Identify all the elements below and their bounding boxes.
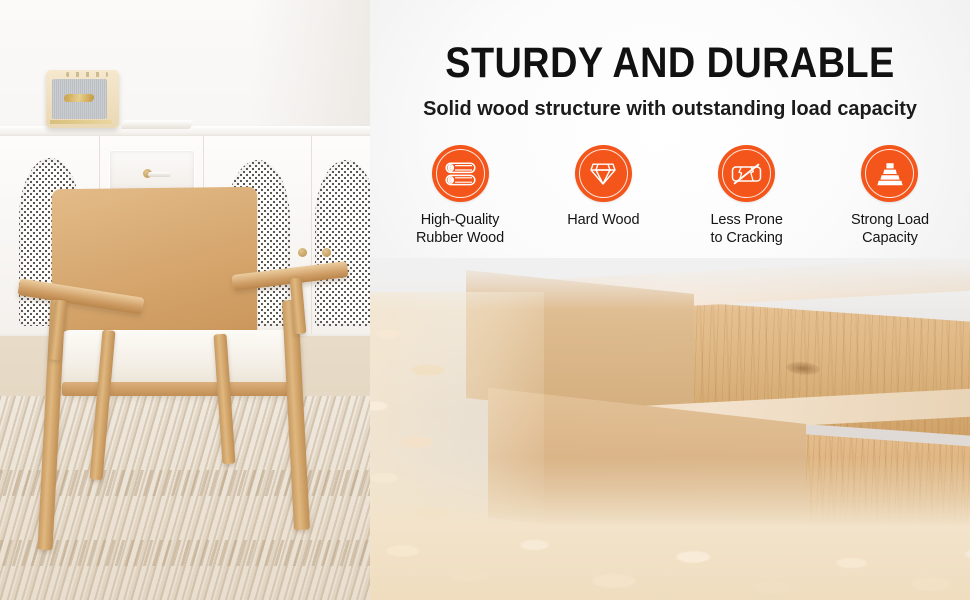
retro-speaker <box>46 70 119 128</box>
feature-label: Hard Wood <box>567 211 639 229</box>
feature-icon-badge <box>861 145 918 202</box>
cabinet-door-right <box>312 136 370 334</box>
photo-top-fade <box>370 258 970 310</box>
cabinet-knob <box>322 248 331 257</box>
stacked-load-icon <box>875 161 905 187</box>
speaker-knobs <box>66 72 108 77</box>
feature-icon-badge <box>432 145 489 202</box>
feature-label-line1: Strong Load <box>851 211 929 229</box>
diamond-gem-icon <box>589 161 617 187</box>
feature-label-line1: High-Quality <box>416 211 504 229</box>
lumber-photo <box>370 258 970 600</box>
feature-list: High-Quality Rubber Wood <box>390 145 960 270</box>
feature-label: High-Quality Rubber Wood <box>416 211 504 247</box>
feature-label-line1: Hard Wood <box>567 211 639 229</box>
feature-item-less-prone-to-cracking: Less Prone to Cracking <box>677 145 817 247</box>
rug-stripe-band <box>0 540 370 566</box>
feature-icon-badge <box>575 145 632 202</box>
feature-label-line2: to Cracking <box>710 229 782 247</box>
page-title: STURDY AND DURABLE <box>406 40 934 86</box>
feature-item-strong-load-capacity: Strong Load Capacity <box>820 145 960 247</box>
product-feature-banner: STURDY AND DURABLE Solid wood structure … <box>0 0 970 600</box>
feature-label-line1: Less Prone <box>710 211 782 229</box>
feature-item-high-quality-rubber-wood: High-Quality Rubber Wood <box>390 145 530 247</box>
decor-tray <box>120 120 193 129</box>
wood-shavings-foreground <box>370 458 970 600</box>
feature-label: Strong Load Capacity <box>851 211 929 247</box>
sideboard-drawer <box>109 150 195 190</box>
feature-item-hard-wood: Hard Wood <box>533 145 673 229</box>
page-subtitle: Solid wood structure with outstanding lo… <box>379 96 961 122</box>
speaker-logo <box>63 94 94 102</box>
wood-knot <box>786 361 820 376</box>
feature-icon-badge <box>718 145 775 202</box>
drawer-handle <box>148 172 171 177</box>
right-content-panel: STURDY AND DURABLE Solid wood structure … <box>370 0 970 600</box>
feature-label: Less Prone to Cracking <box>710 211 782 247</box>
cabinet-knob <box>298 248 307 257</box>
cane-arch-panel <box>315 160 370 326</box>
feature-label-line2: Capacity <box>851 229 929 247</box>
left-product-photo <box>0 0 370 600</box>
feature-label-line2: Rubber Wood <box>416 229 504 247</box>
stacked-logs-icon <box>444 161 477 187</box>
speaker-base-trim <box>50 120 112 124</box>
no-cracking-icon <box>730 161 763 187</box>
